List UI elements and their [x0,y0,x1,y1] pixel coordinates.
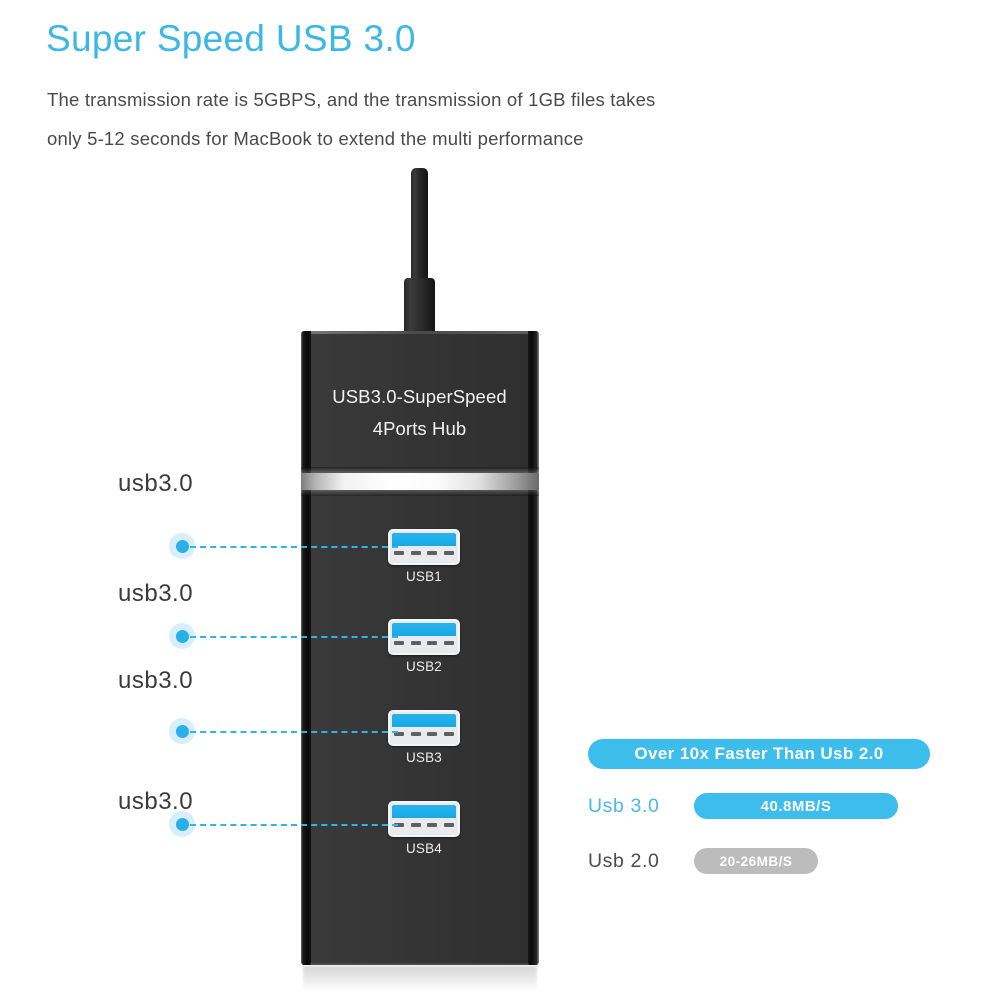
usb-hub-device: USB3.0-SuperSpeed 4Ports Hub USB1 USB2 [301,331,539,965]
speed-row-usb30-value: 40.8MB/S [694,793,898,819]
usb-cable [411,168,428,284]
usb-port-1[interactable] [388,529,460,565]
usb-port-2-caption: USB2 [379,659,469,674]
callout-dot-1[interactable] [169,533,195,559]
usb-contact-pin [394,551,404,555]
usb-port-blue-insert-icon [392,714,456,727]
callout-line-3 [190,731,398,733]
device-brand-label: USB3.0-SuperSpeed 4Ports Hub [310,381,529,445]
usb-port-blue-insert-icon [392,623,456,636]
usb-contact-pin [427,732,437,736]
usb-port-3[interactable] [388,710,460,746]
device-bottom-highlight [310,963,529,965]
usb-contact-pin [411,823,421,827]
usb-contact-pin [411,551,421,555]
callout-label-3: usb3.0 [118,667,193,695]
speed-row-usb20-value: 20-26MB/S [694,848,818,874]
speed-row-usb20: Usb 2.0 20-26MB/S [588,848,818,874]
usb-contact-pin [427,641,437,645]
callout-label-2: usb3.0 [118,580,193,608]
device-top-highlight [310,331,529,334]
callout-dot-3[interactable] [169,718,195,744]
device-right-edge [528,331,539,965]
speed-row-usb30: Usb 3.0 40.8MB/S [588,793,898,819]
usb-port-2[interactable] [388,619,460,655]
usb-port-blue-insert-icon [392,533,456,546]
callout-dot-2[interactable] [169,623,195,649]
usb-port-contacts [394,821,454,828]
usb-port-4[interactable] [388,801,460,837]
usb-port-3-caption: USB3 [379,750,469,765]
subtitle-line-1: The transmission rate is 5GBPS, and the … [47,80,927,119]
usb-contact-pin [444,551,454,555]
device-label-line-2: 4Ports Hub [310,413,529,445]
callout-line-1 [190,546,398,548]
usb-contact-pin [394,641,404,645]
speed-comparison-banner: Over 10x Faster Than Usb 2.0 [588,739,930,769]
device-reflection [303,966,537,992]
device-label-line-1: USB3.0-SuperSpeed [310,381,529,413]
usb-contact-pin [444,732,454,736]
usb-port-blue-insert-icon [392,805,456,818]
usb-contact-pin [444,641,454,645]
usb-contact-pin [427,551,437,555]
usb-port-contacts [394,639,454,646]
subtitle-line-2: only 5-12 seconds for MacBook to extend … [47,119,927,158]
usb-port-1-caption: USB1 [379,569,469,584]
usb-contact-pin [411,732,421,736]
callout-dot-4[interactable] [169,811,195,837]
callout-label-1: usb3.0 [118,470,193,498]
usb-contact-pin [427,823,437,827]
usb-contact-pin [411,641,421,645]
speed-row-usb20-label: Usb 2.0 [588,850,694,873]
page-subtitle: The transmission rate is 5GBPS, and the … [47,80,927,158]
usb-port-4-caption: USB4 [379,841,469,856]
usb-port-contacts [394,549,454,556]
callout-line-2 [190,636,398,638]
silver-band-bottom-shadow [301,490,539,496]
speed-row-usb30-label: Usb 3.0 [588,795,694,818]
page-title: Super Speed USB 3.0 [46,18,416,60]
usb-contact-pin [444,823,454,827]
silver-band [301,473,539,490]
callout-line-4 [190,824,398,826]
usb-port-contacts [394,730,454,737]
